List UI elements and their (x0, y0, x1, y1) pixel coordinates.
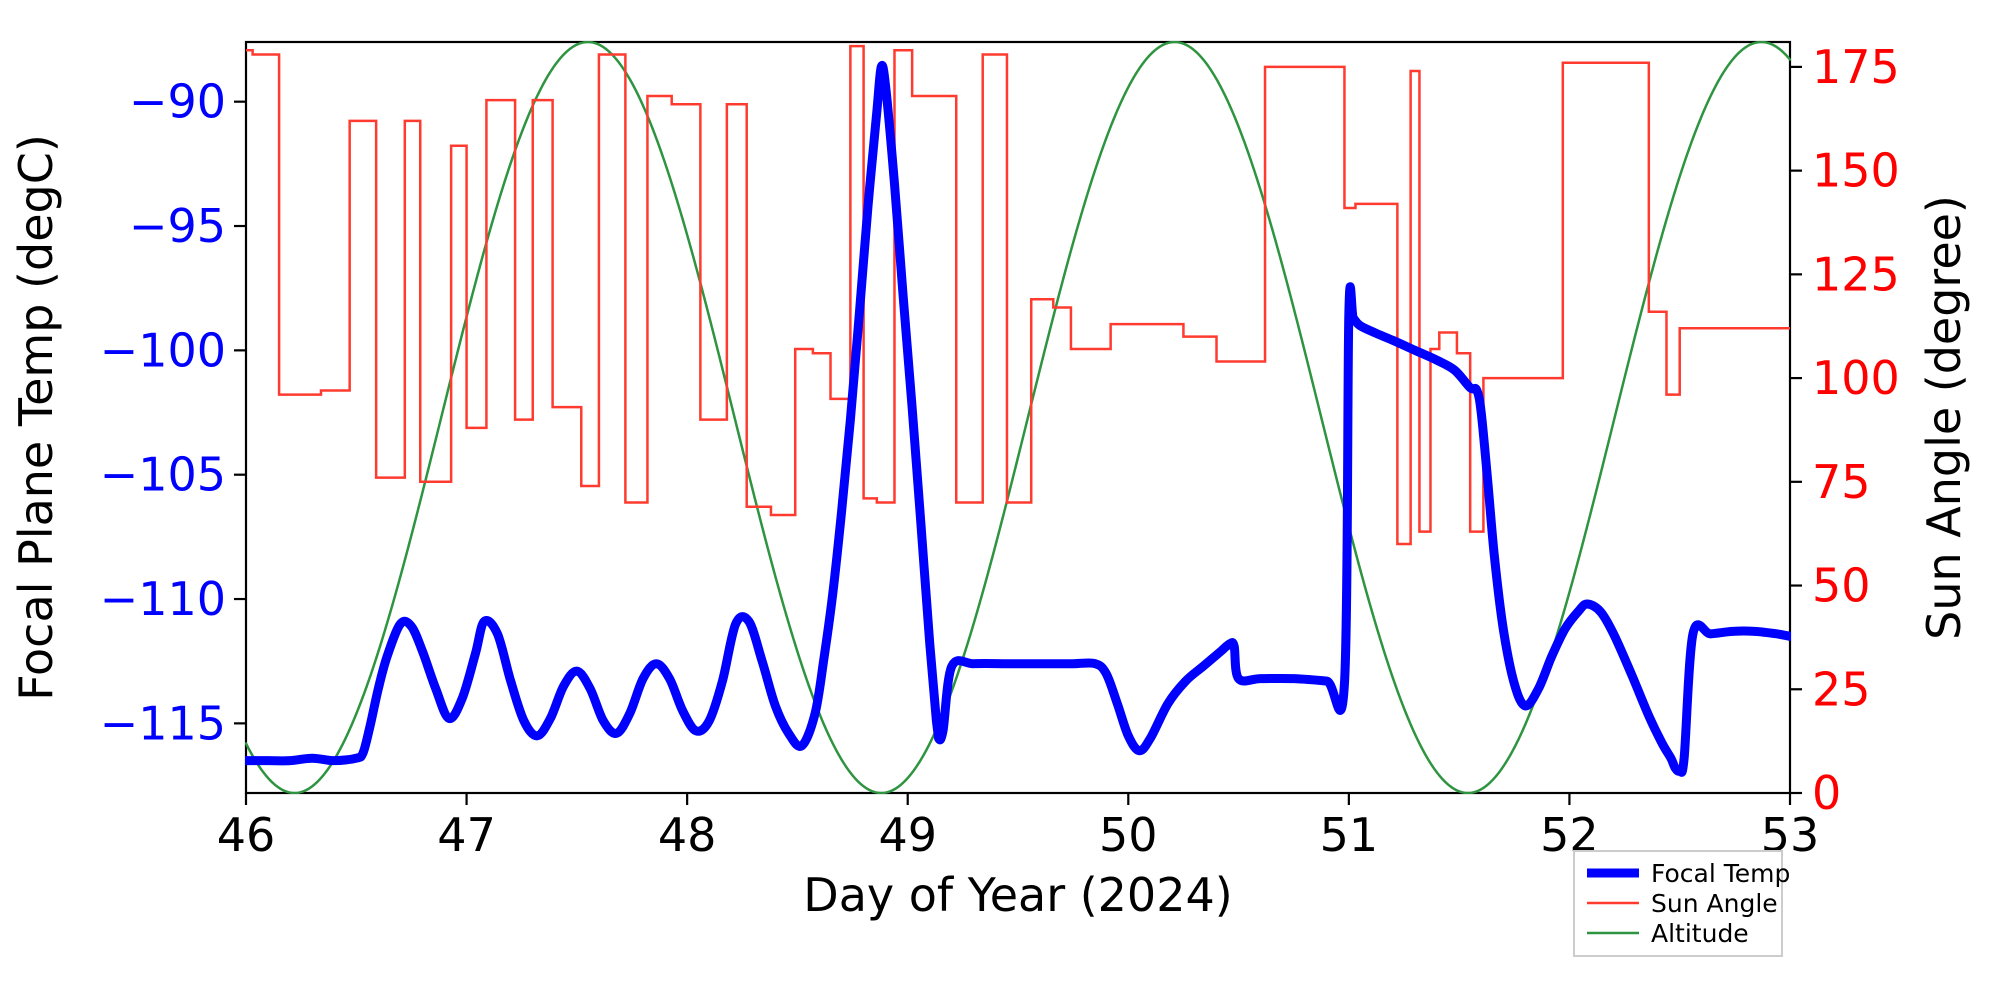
y-left-tick-label: −110 (100, 572, 226, 626)
x-tick-label: 47 (437, 808, 496, 862)
y-right-tick-label: 50 (1812, 559, 1871, 613)
series-altitude-line (246, 42, 1790, 793)
legend-label-0: Focal Temp (1651, 859, 1790, 888)
y-right-tick-label: 75 (1812, 455, 1871, 509)
figure-root: 4647484950515253Day of Year (2024)−90−95… (0, 0, 2000, 1000)
y-right-tick-label: 25 (1812, 662, 1871, 716)
x-tick-label: 49 (878, 808, 937, 862)
x-tick-label: 48 (658, 808, 717, 862)
x-axis-label: Day of Year (2024) (803, 868, 1232, 922)
y-left-tick-label: −105 (100, 448, 226, 502)
legend-label-1: Sun Angle (1651, 889, 1778, 918)
chart-svg: 4647484950515253Day of Year (2024)−90−95… (0, 0, 2000, 1000)
y-left-tick-label: −100 (100, 323, 226, 377)
series-focal-temp-line (246, 65, 1790, 772)
y-right-axis-label: Sun Angle (degree) (1917, 195, 1971, 640)
y-right-tick-label: 0 (1812, 766, 1841, 820)
y-left-tick-label: −90 (129, 75, 226, 129)
y-right-tick-label: 100 (1812, 351, 1900, 405)
y-left-tick-label: −95 (129, 199, 226, 253)
series-sun-angle-line (246, 46, 1790, 544)
y-right-tick-label: 150 (1812, 144, 1900, 198)
x-tick-label: 46 (217, 808, 276, 862)
y-left-tick-label: −115 (100, 696, 226, 750)
y-left-axis-label: Focal Plane Temp (degC) (9, 134, 63, 701)
x-tick-label: 51 (1320, 808, 1379, 862)
x-tick-label: 50 (1099, 808, 1158, 862)
y-right-tick-label: 175 (1812, 40, 1900, 94)
y-right-tick-label: 125 (1812, 247, 1900, 301)
plot-frame (246, 42, 1790, 793)
legend-label-2: Altitude (1651, 919, 1749, 948)
